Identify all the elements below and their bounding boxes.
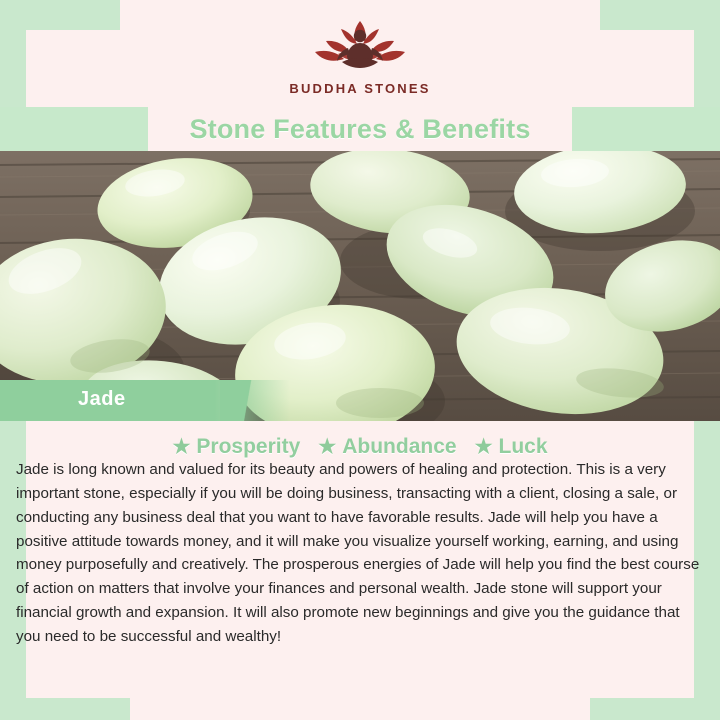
benefit-item: ★ Abundance: [318, 435, 456, 459]
brand-logo: BUDDHA STONES: [0, 14, 720, 96]
stone-name: Jade: [78, 388, 126, 411]
decorative-corner-bottom-right: [590, 698, 720, 720]
stone-label-ribbon: [0, 380, 290, 421]
ribbon-diagonal-cut: [220, 380, 290, 421]
lotus-meditation-figure-icon: [308, 14, 412, 76]
benefit-item: ★ Prosperity: [172, 435, 300, 459]
brand-name: BUDDHA STONES: [289, 81, 430, 96]
decorative-corner-bottom-left: [0, 698, 130, 720]
page-title: Stone Features & Benefits: [0, 107, 720, 151]
benefit-label: Abundance: [342, 435, 456, 459]
description-paragraph: Jade is long known and valued for its be…: [16, 458, 704, 649]
benefit-item: ★ Luck: [475, 435, 548, 459]
star-icon: ★: [475, 437, 493, 457]
benefit-label: Prosperity: [196, 435, 300, 459]
star-icon: ★: [172, 437, 190, 457]
star-icon: ★: [318, 437, 336, 457]
benefit-label: Luck: [499, 435, 548, 459]
title-band: Stone Features & Benefits: [0, 107, 720, 151]
